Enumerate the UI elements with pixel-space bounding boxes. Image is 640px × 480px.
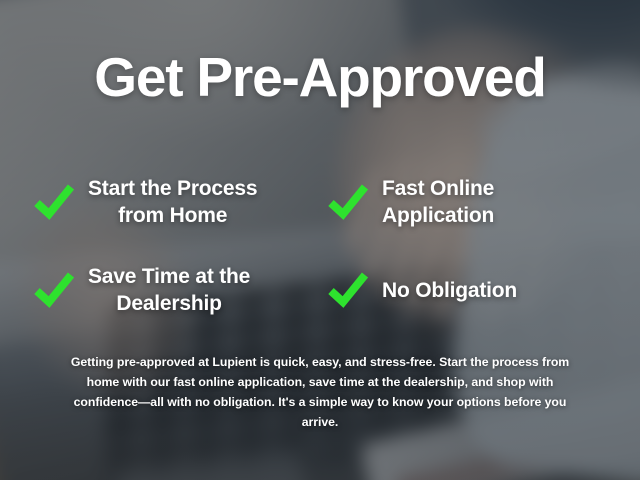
benefit-label: No Obligation — [382, 277, 517, 304]
benefit-label: Fast OnlineApplication — [382, 175, 494, 229]
body-paragraph: Getting pre-approved at Lupient is quick… — [58, 352, 582, 432]
check-icon — [32, 268, 76, 312]
benefit-no-obligation: No Obligation — [320, 246, 614, 334]
benefit-fast-online-application: Fast OnlineApplication — [320, 158, 614, 246]
benefit-label: Start the Processfrom Home — [88, 175, 257, 229]
check-icon — [32, 180, 76, 224]
pre-approved-banner: Get Pre-Approved Start the Processfrom H… — [0, 0, 640, 480]
benefit-label: Save Time at theDealership — [88, 263, 250, 317]
benefit-save-time-at-the-dealership: Save Time at theDealership — [26, 246, 320, 334]
check-icon — [326, 180, 370, 224]
benefits-grid: Start the Processfrom Home Fast OnlineAp… — [26, 158, 614, 334]
banner-content: Get Pre-Approved Start the Processfrom H… — [0, 0, 640, 480]
benefit-start-the-process-from-home: Start the Processfrom Home — [26, 158, 320, 246]
headline: Get Pre-Approved — [0, 46, 640, 108]
check-icon — [326, 268, 370, 312]
